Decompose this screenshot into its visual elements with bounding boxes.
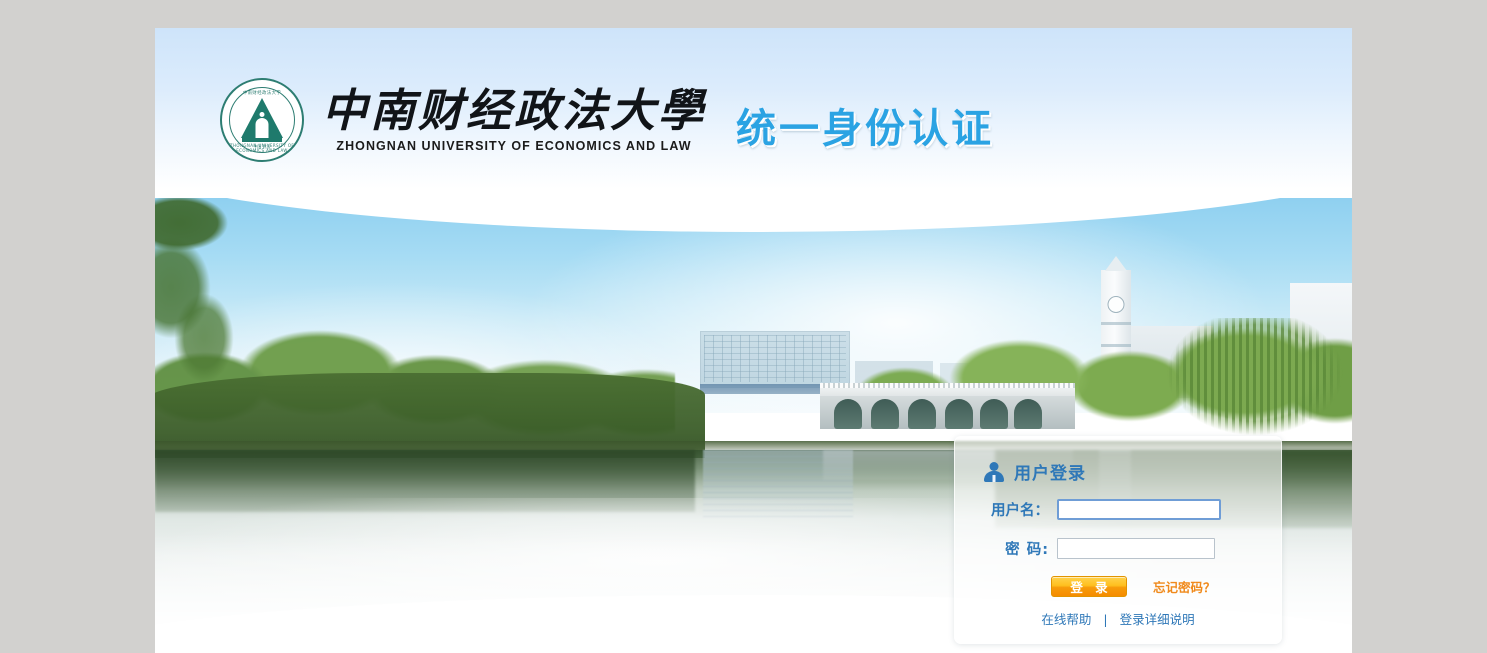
- building-window-grid: [704, 335, 846, 382]
- password-label: 密 码:: [983, 538, 1049, 559]
- user-icon-tie: [993, 475, 996, 482]
- bridge-arch-6: [1014, 399, 1042, 429]
- page-container: 中南财经政法大学 中国 武汉 ZHONGNAN UNIVERSITY OF EC…: [155, 28, 1352, 653]
- login-submit-button[interactable]: 登 录: [1051, 576, 1127, 597]
- university-name-block: 中南财经政法大學 ZHONGNAN UNIVERSITY OF ECONOMIC…: [322, 87, 706, 152]
- login-instructions-link[interactable]: 登录详细说明: [1120, 612, 1195, 627]
- footer-link-separator: |: [1103, 612, 1107, 627]
- crest-bottom-text: ZHONGNAN UNIVERSITY OF ECONOMICS AND LAW: [220, 143, 304, 153]
- bridge-arch-4: [945, 399, 973, 429]
- forgot-password-link[interactable]: 忘记密码？: [1153, 577, 1216, 596]
- university-name-cn: 中南财经政法大學: [322, 87, 706, 134]
- page-header: 中南财经政法大学 中国 武汉 ZHONGNAN UNIVERSITY OF EC…: [155, 28, 1352, 203]
- clock-tower-roof: [1105, 256, 1127, 271]
- password-input[interactable]: [1057, 538, 1215, 559]
- login-panel: 用户登录 用户名： 密 码: 登 录 忘记密码？ 在线帮助 | 登录详细说明: [954, 436, 1282, 644]
- user-icon: [983, 461, 1005, 483]
- login-footer-links: 在线帮助 | 登录详细说明: [955, 609, 1281, 628]
- login-panel-header: 用户登录: [983, 459, 1086, 484]
- university-crest-icon: 中南财经政法大学 中国 武汉 ZHONGNAN UNIVERSITY OF EC…: [220, 78, 304, 162]
- skyline-building-main: [700, 331, 850, 388]
- system-title: 统一身份认证: [736, 96, 994, 154]
- login-panel-title: 用户登录: [1014, 459, 1086, 484]
- bridge-arch-2: [871, 399, 899, 429]
- username-row: 用户名：: [983, 499, 1221, 520]
- online-help-link[interactable]: 在线帮助: [1041, 612, 1091, 627]
- bridge-arch-1: [834, 399, 862, 429]
- password-row: 密 码:: [983, 538, 1215, 559]
- university-name-en: ZHONGNAN UNIVERSITY OF ECONOMICS AND LAW: [336, 139, 691, 153]
- bridge-arch-5: [980, 399, 1008, 429]
- campus-banner-photo: 用户登录 用户名： 密 码: 登 录 忘记密码？ 在线帮助 | 登录详细说明: [155, 198, 1352, 653]
- clock-tower-band-1: [1101, 322, 1131, 325]
- user-icon-head: [990, 462, 999, 471]
- login-actions-row: 登 录 忘记密码？: [1051, 576, 1216, 597]
- crest-dot: [260, 112, 265, 117]
- username-label: 用户名：: [983, 499, 1049, 520]
- crest-top-text: 中南财经政法大学: [220, 90, 304, 96]
- crest-base-bar: [242, 138, 282, 142]
- bridge-railing: [820, 383, 1075, 388]
- username-input[interactable]: [1057, 499, 1221, 520]
- bridge-arch-3: [908, 399, 936, 429]
- willow-branches-corner: [155, 198, 269, 408]
- brand-block: 中南财经政法大学 中国 武汉 ZHONGNAN UNIVERSITY OF EC…: [220, 78, 994, 162]
- crest-arch-cutout: [256, 118, 269, 140]
- clock-face: [1108, 296, 1125, 313]
